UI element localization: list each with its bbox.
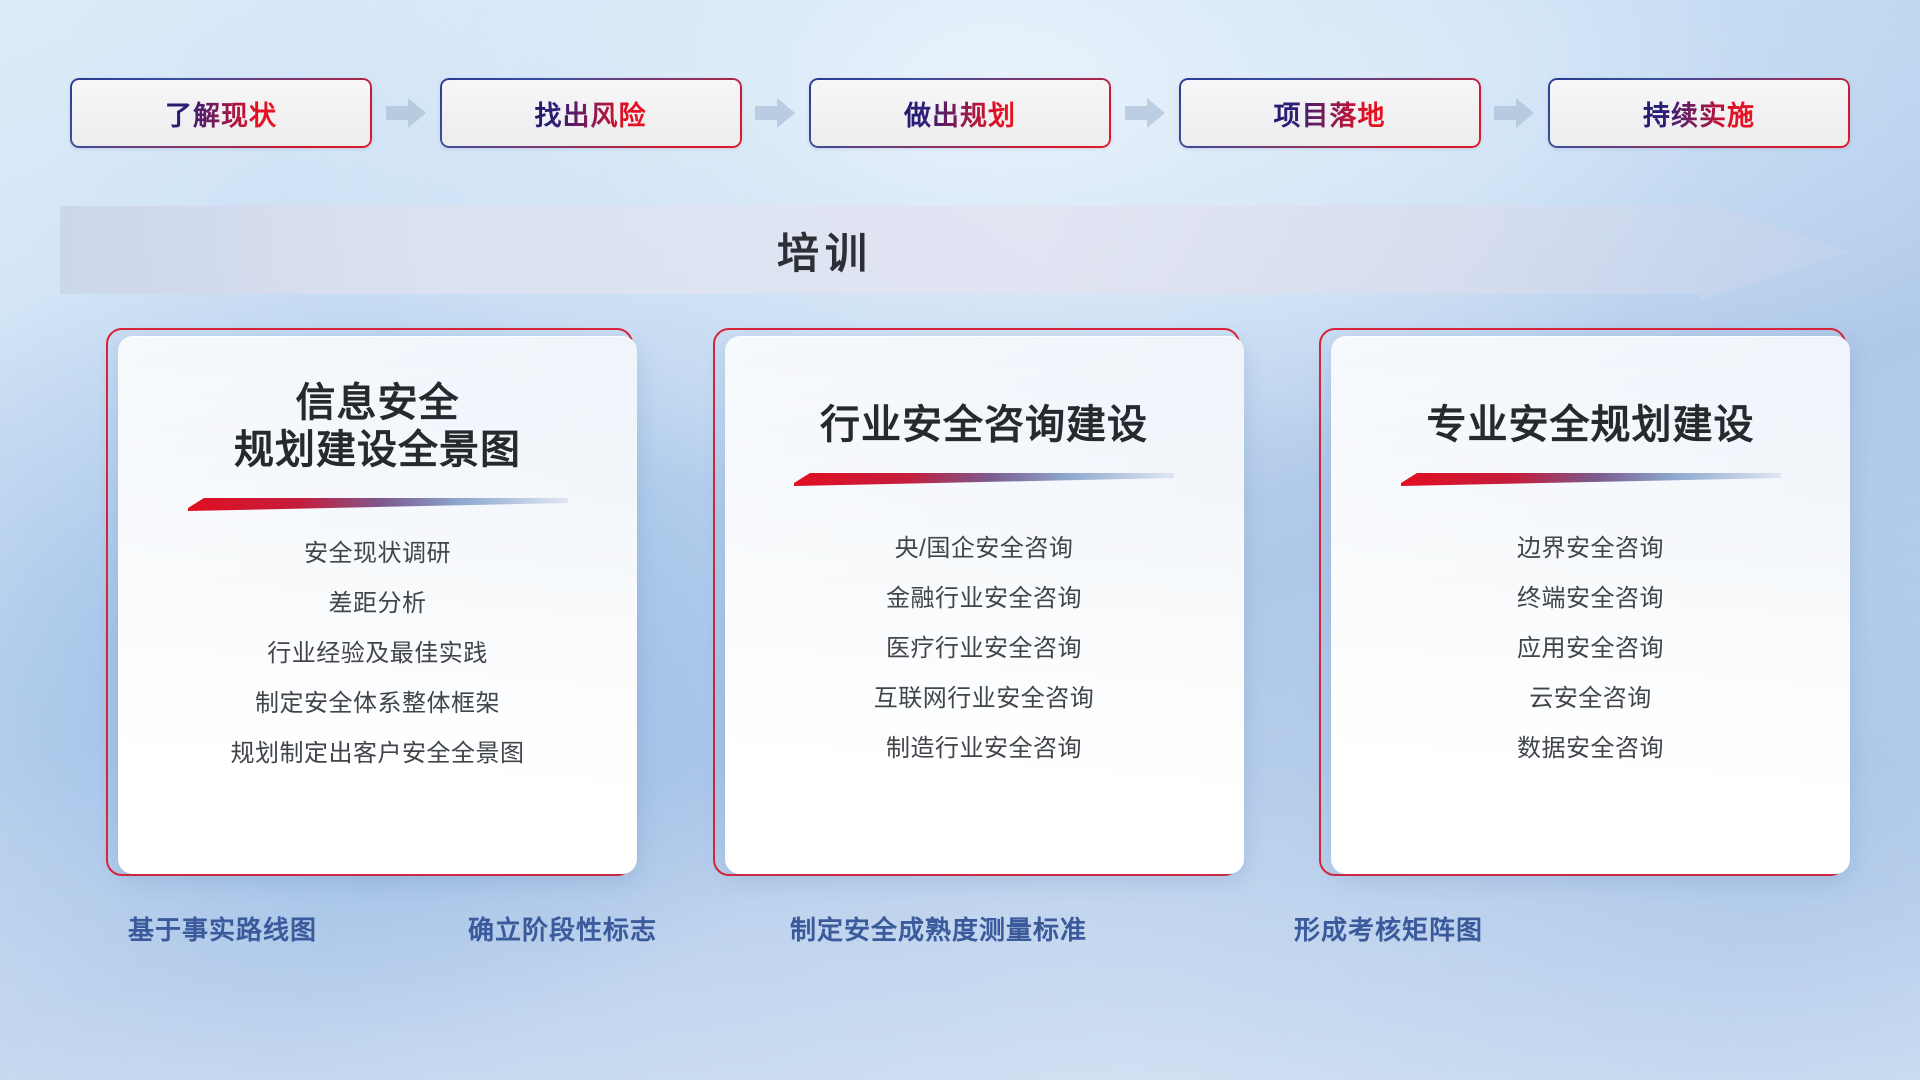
list-item: 边界安全咨询 [1331,537,1850,561]
arrow-right-icon [755,96,795,130]
list-item: 金融行业安全咨询 [725,587,1244,611]
step-box-4[interactable]: 项目落地 [1179,78,1481,148]
list-item: 安全现状调研 [118,542,637,566]
list-item: 应用安全咨询 [1331,637,1850,661]
step-box-1[interactable]: 了解现状 [70,78,372,148]
card-3-title: 专业安全规划建设 [1427,402,1755,449]
process-step-row: 了解现状 找出风险 做出规划 项目落地 持续实施 [70,78,1850,148]
training-banner: 培训 [60,200,1850,300]
list-item: 医疗行业安全咨询 [725,637,1244,661]
step-label-4: 项目落地 [1274,94,1386,133]
step-label-2: 找出风险 [535,94,647,133]
training-label: 培训 [60,200,1590,300]
list-item: 央/国企安全咨询 [725,537,1244,561]
card-1-title: 信息安全 规划建设全景图 [234,380,521,474]
gradient-divider-icon [1401,471,1781,487]
card-3-list: 边界安全咨询 终端安全咨询 应用安全咨询 云安全咨询 数据安全咨询 [1331,537,1850,761]
list-item: 制定安全体系整体框架 [118,692,637,716]
footnote-4: 形成考核矩阵图 [1294,910,1483,947]
list-item: 终端安全咨询 [1331,587,1850,611]
step-label-5: 持续实施 [1643,94,1755,133]
list-item: 行业经验及最佳实践 [118,642,637,666]
list-item: 互联网行业安全咨询 [725,687,1244,711]
list-item: 差距分析 [118,592,637,616]
arrow-right-icon [1494,96,1534,130]
step-box-5[interactable]: 持续实施 [1548,78,1850,148]
step-box-2[interactable]: 找出风险 [440,78,742,148]
card-2-list: 央/国企安全咨询 金融行业安全咨询 医疗行业安全咨询 互联网行业安全咨询 制造行… [725,537,1244,761]
card-2-body: 行业安全咨询建设 央/国企安全咨询 金融行业安全咨询 医疗行业安全咨询 [725,336,1244,874]
arrow-right-icon [386,96,426,130]
footnote-row: 基于事实路线图 确立阶段性标志 制定安全成熟度测量标准 形成考核矩阵图 [0,910,1920,958]
step-label-3: 做出规划 [904,94,1016,133]
footnote-3: 制定安全成熟度测量标准 [790,910,1087,947]
card-3[interactable]: 专业安全规划建设 边界安全咨询 终端安全咨询 应用安全咨询 云安全 [1323,336,1850,874]
card-1-list: 安全现状调研 差距分析 行业经验及最佳实践 制定安全体系整体框架 规划制定出客户… [118,542,637,766]
card-row: 信息安全 规划建设全景图 安全现状调研 差距分析 行业经验及最佳实践 [110,336,1850,874]
footnote-1: 基于事实路线图 [128,910,317,947]
card-2-title: 行业安全咨询建设 [820,402,1148,449]
card-3-body: 专业安全规划建设 边界安全咨询 终端安全咨询 应用安全咨询 云安全 [1331,336,1850,874]
gradient-divider-icon [188,496,568,512]
card-1[interactable]: 信息安全 规划建设全景图 安全现状调研 差距分析 行业经验及最佳实践 [110,336,637,874]
list-item: 制造行业安全咨询 [725,737,1244,761]
card-1-body: 信息安全 规划建设全景图 安全现状调研 差距分析 行业经验及最佳实践 [118,336,637,874]
arrow-right-icon [1125,96,1165,130]
footnote-2: 确立阶段性标志 [468,910,657,947]
step-box-3[interactable]: 做出规划 [809,78,1111,148]
gradient-divider-icon [794,471,1174,487]
step-label-1: 了解现状 [165,94,277,133]
list-item: 数据安全咨询 [1331,737,1850,761]
list-item: 云安全咨询 [1331,687,1850,711]
card-2[interactable]: 行业安全咨询建设 央/国企安全咨询 金融行业安全咨询 医疗行业安全咨询 [717,336,1244,874]
list-item: 规划制定出客户安全全景图 [118,742,637,766]
